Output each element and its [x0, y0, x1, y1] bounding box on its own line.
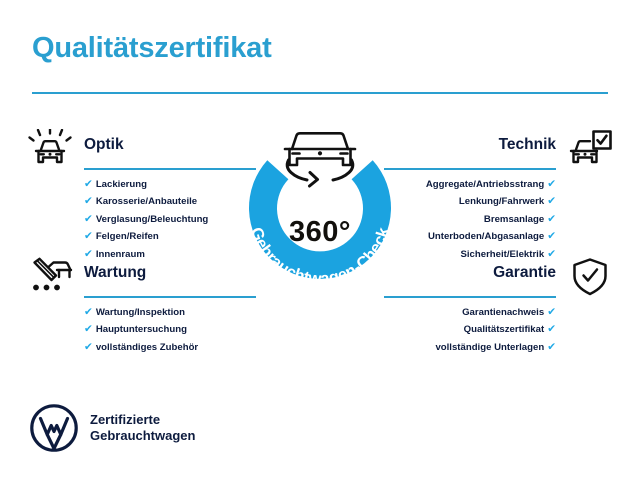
badge-360-check: Gebrauchtwagen-Check 360° [231, 112, 409, 292]
section-divider [384, 168, 556, 170]
check-icon: ✔ [84, 230, 93, 242]
list-item: Unterboden/Abgasanlage✔ [426, 228, 556, 245]
check-icon: ✔ [547, 213, 556, 225]
badge-ring-svg: Gebrauchtwagen-Check [231, 112, 409, 292]
check-icon: ✔ [84, 323, 93, 335]
list-item-label: Felgen/Reifen [96, 231, 159, 242]
list-item: Bremsanlage✔ [426, 211, 556, 228]
list-item-label: Hauptuntersuchung [96, 324, 187, 335]
checklist-technik: Aggregate/Antriebsstrang✔ Lenkung/Fahrwe… [426, 176, 556, 263]
section-title: Wartung [84, 264, 146, 282]
list-item: Garantienachweis✔ [435, 304, 556, 321]
footer-text: Zertifizierte Gebrauchtwagen [90, 412, 195, 444]
checklist-wartung: ✔Wartung/Inspektion ✔Hauptuntersuchung ✔… [84, 304, 198, 356]
list-item-label: Lackierung [96, 179, 147, 190]
list-item: ✔vollständiges Zubehör [84, 339, 198, 356]
check-icon: ✔ [84, 178, 93, 190]
check-icon: ✔ [547, 195, 556, 207]
shield-check-icon [564, 256, 616, 298]
section-optik: Optik ✔Lackierung ✔Karosserie/Anbauteile… [24, 128, 256, 174]
list-item-label: vollständige Unterlagen [435, 342, 544, 353]
checklist-optik: ✔Lackierung ✔Karosserie/Anbauteile ✔Verg… [84, 176, 208, 263]
list-item-label: Karosserie/Anbauteile [96, 196, 197, 207]
list-item: Qualitätszertifikat✔ [435, 321, 556, 338]
list-item: Aggregate/Antriebsstrang✔ [426, 176, 556, 193]
footer-line-2: Gebrauchtwagen [90, 428, 195, 444]
check-icon: ✔ [547, 230, 556, 242]
section-divider [84, 296, 256, 298]
check-icon: ✔ [84, 306, 93, 318]
check-icon: ✔ [84, 213, 93, 225]
check-icon: ✔ [547, 306, 556, 318]
section-divider [384, 296, 556, 298]
check-icon: ✔ [84, 195, 93, 207]
list-item-label: Garantienachweis [462, 307, 544, 318]
car-checkbox-icon [564, 128, 616, 170]
list-item: ✔Karosserie/Anbauteile [84, 193, 208, 210]
section-title: Technik [499, 136, 556, 154]
list-item: ✔Lackierung [84, 176, 208, 193]
check-icon: ✔ [547, 341, 556, 353]
list-item: ✔Hauptuntersuchung [84, 321, 198, 338]
certificate-page: Qualitätszertifikat Optik [0, 0, 640, 480]
list-item-label: Qualitätszertifikat [464, 324, 545, 335]
list-item-label: vollständiges Zubehör [96, 342, 198, 353]
footer-line-1: Zertifizierte [90, 412, 195, 428]
list-item: ✔Felgen/Reifen [84, 228, 208, 245]
volkswagen-logo [30, 404, 78, 452]
list-item-label: Unterboden/Abgasanlage [428, 231, 544, 242]
section-garantie: Garantie Garantienachweis✔ Qualitätszert… [384, 256, 616, 302]
section-header: Garantie [384, 256, 616, 302]
section-technik: Technik Aggregate/Antriebsstrang✔ Lenkun… [384, 128, 616, 174]
section-title: Optik [84, 136, 124, 154]
list-item-label: Lenkung/Fahrwerk [459, 196, 544, 207]
section-title: Garantie [493, 264, 556, 282]
list-item: ✔Verglasung/Beleuchtung [84, 211, 208, 228]
section-header: Optik [24, 128, 256, 174]
section-header: Wartung [24, 256, 256, 302]
title-divider [32, 92, 608, 94]
check-icon: ✔ [547, 178, 556, 190]
check-icon: ✔ [84, 341, 93, 353]
list-item-label: Bremsanlage [484, 214, 544, 225]
car-rotate-icon [285, 133, 355, 186]
footer-branding: Zertifizierte Gebrauchtwagen [30, 404, 195, 452]
list-item-label: Wartung/Inspektion [96, 307, 185, 318]
list-item: vollständige Unterlagen✔ [435, 339, 556, 356]
checklist-garantie: Garantienachweis✔ Qualitätszertifikat✔ v… [435, 304, 556, 356]
list-item-label: Aggregate/Antriebsstrang [426, 179, 544, 190]
list-item: ✔Wartung/Inspektion [84, 304, 198, 321]
list-item-label: Verglasung/Beleuchtung [96, 214, 208, 225]
section-wartung: Wartung ✔Wartung/Inspektion ✔Hauptunters… [24, 256, 256, 302]
section-header: Technik [384, 128, 616, 174]
car-shine-icon [24, 128, 76, 170]
wrench-car-icon [24, 256, 76, 298]
check-icon: ✔ [547, 323, 556, 335]
list-item: Lenkung/Fahrwerk✔ [426, 193, 556, 210]
badge-degrees-label: 360° [231, 216, 409, 249]
page-title: Qualitätszertifikat [32, 32, 272, 65]
